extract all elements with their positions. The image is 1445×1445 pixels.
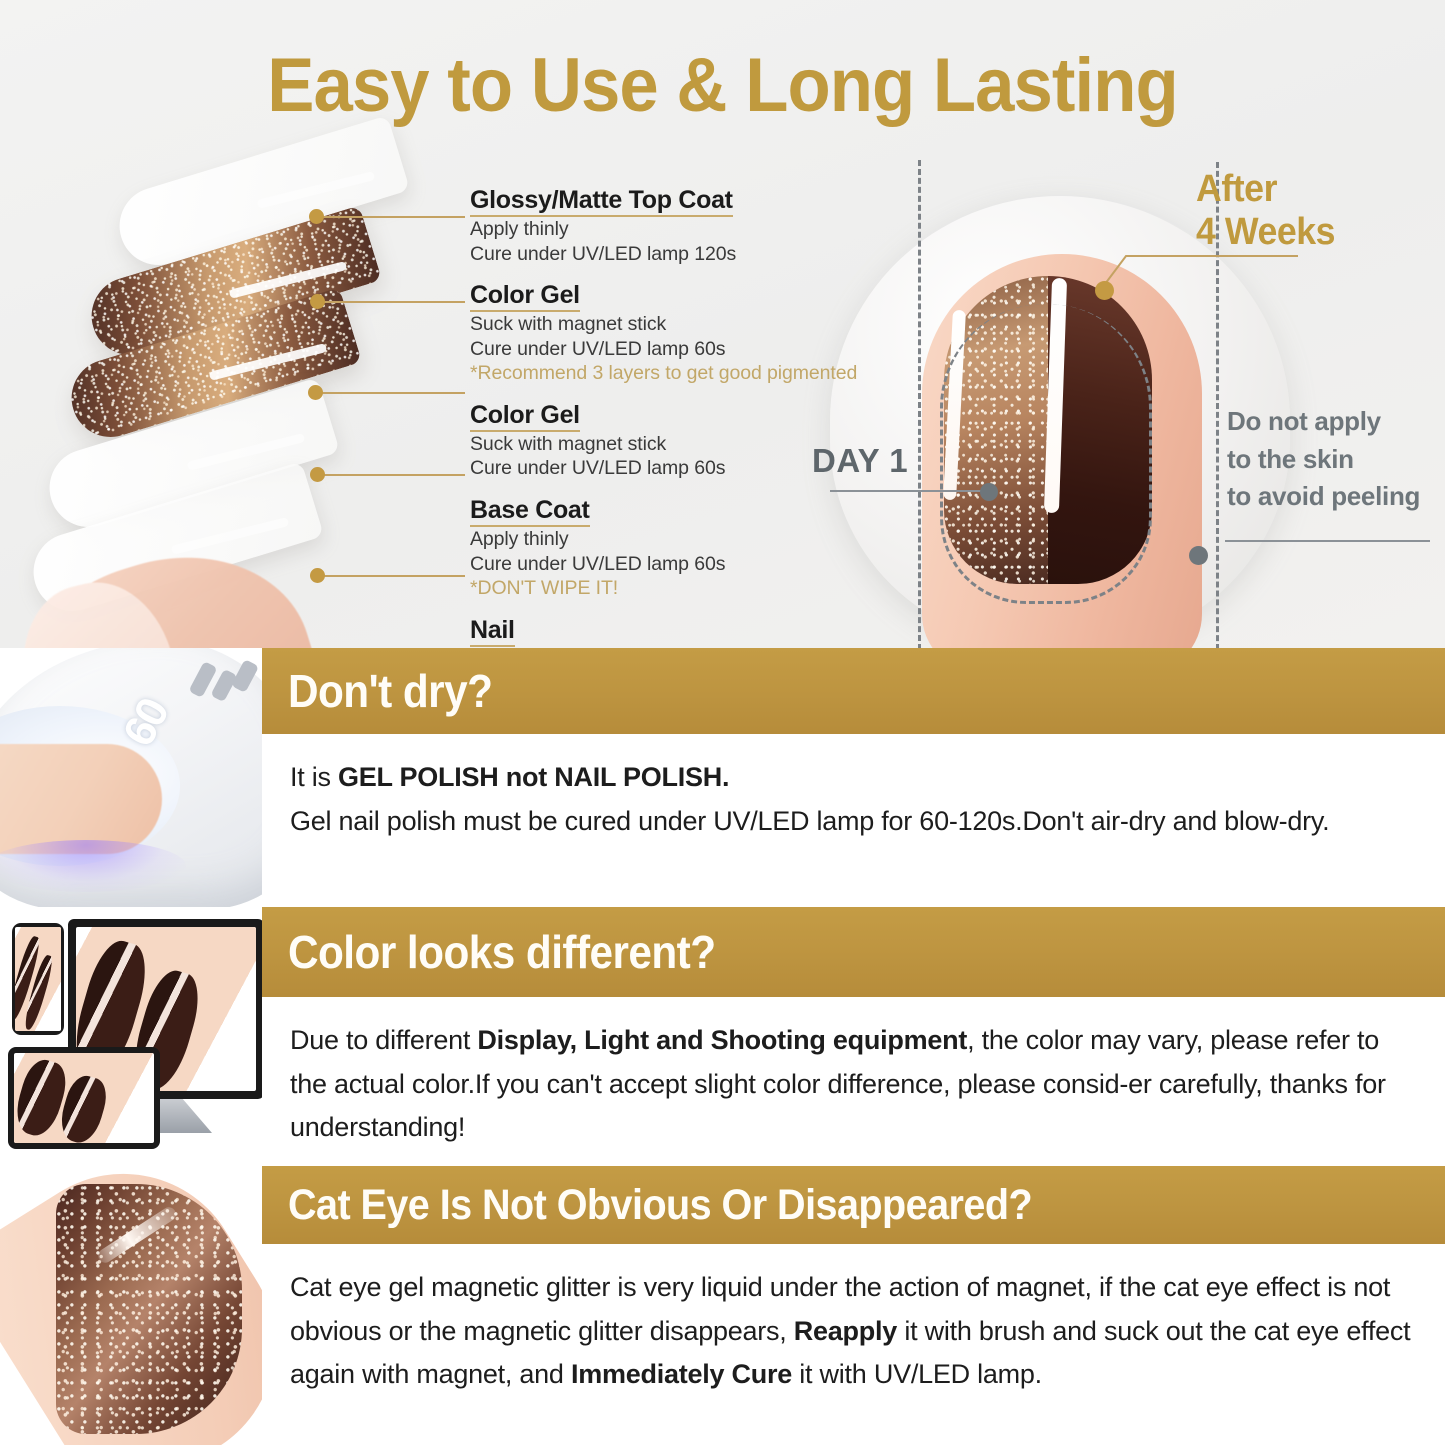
layer-note: *Recommend 3 layers to get good pigmente… xyxy=(470,361,870,386)
after-4-weeks-label: After 4 Weeks xyxy=(1196,168,1335,253)
faq-paragraph: It is GEL POLISH not NAIL POLISH. Gel na… xyxy=(262,734,1445,843)
layer-line: Apply thinly xyxy=(470,217,870,242)
faq-text-plain: Due to different xyxy=(290,1025,477,1055)
layer-line: Cure under UV/LED lamp 60s xyxy=(470,456,870,481)
faq-header-bar: Cat Eye Is Not Obvious Or Disappeared? xyxy=(262,1166,1445,1244)
leader-line-color-gel-1 xyxy=(322,301,465,303)
after-label-line1: After xyxy=(1196,168,1335,211)
layer-item-color-gel-lower: Color Gel Suck with magnet stick Cure un… xyxy=(470,401,870,481)
skin-warning-line1: Do not apply xyxy=(1227,403,1420,441)
tablet-device xyxy=(8,1047,160,1149)
faq-heading: Don't dry? xyxy=(288,664,492,718)
layer-title: Base Coat xyxy=(470,496,590,527)
layer-item-top-coat: Glossy/Matte Top Coat Apply thinly Cure … xyxy=(470,186,870,266)
layer-line: Cure under UV/LED lamp 60s xyxy=(470,552,870,577)
layer-title: Nail xyxy=(470,616,515,647)
nails-on-tablet xyxy=(14,1053,154,1143)
layer-item-nail: Nail Keep clean&dry xyxy=(470,616,870,648)
layer-title: Color Gel xyxy=(470,281,580,312)
leader-line-base-coat xyxy=(322,474,465,476)
layer-line: Keep clean&dry xyxy=(470,647,870,648)
faq-thumbnail-devices xyxy=(0,907,262,1166)
hand-in-lamp xyxy=(0,744,162,854)
layer-note: *DON'T WIPE IT! xyxy=(470,576,870,601)
skin-warning-line3: to avoid peeling xyxy=(1227,478,1420,516)
layer-label-list: Glossy/Matte Top Coat Apply thinly Cure … xyxy=(470,186,870,648)
faq-thumbnail-cat-eye xyxy=(0,1166,262,1445)
leader-dot-color-gel-2 xyxy=(308,385,323,400)
layer-stack-illustration xyxy=(45,150,465,648)
hero-section: Easy to Use & Long Lasting Glossy/Matte xyxy=(0,0,1445,648)
dashed-guide-left xyxy=(918,160,921,648)
phone-screen xyxy=(15,927,61,1031)
layer-line: Cure under UV/LED lamp 60s xyxy=(470,337,870,362)
faq-section-cat-eye: Cat Eye Is Not Obvious Or Disappeared? C… xyxy=(0,1166,1445,1445)
phone-device xyxy=(12,923,64,1035)
leader-line-color-gel-2 xyxy=(320,392,465,394)
infographic-page: Easy to Use & Long Lasting Glossy/Matte xyxy=(0,0,1445,1445)
faq-text-plain: It is xyxy=(290,762,338,792)
skin-warning-label: Do not apply to the skin to avoid peelin… xyxy=(1227,403,1420,516)
faq-header-bar: Don't dry? xyxy=(262,648,1445,734)
leader-dot-color-gel-1 xyxy=(310,294,325,309)
faq-paragraph: Due to different Display, Light and Shoo… xyxy=(262,997,1445,1150)
faq-body: Don't dry? It is GEL POLISH not NAIL POL… xyxy=(262,648,1445,907)
faq-text-bold: Display, Light and Shooting equipment xyxy=(477,1025,967,1055)
tablet-screen xyxy=(14,1053,154,1143)
page-title: Easy to Use & Long Lasting xyxy=(51,42,1395,129)
faq-body: Color looks different? Due to different … xyxy=(262,907,1445,1166)
skin-warning-leader-line xyxy=(1225,540,1430,542)
faq-paragraph: Cat eye gel magnetic glitter is very liq… xyxy=(262,1244,1445,1397)
layer-title: Color Gel xyxy=(470,401,580,432)
faq-thumbnail-uv-lamp: 60 xyxy=(0,648,262,907)
skin-warning-dot xyxy=(1189,546,1208,565)
faq-text-bold: Immediately Cure xyxy=(571,1359,792,1389)
nail-outline-dashed xyxy=(940,304,1152,604)
faq-text-plain: Gel nail polish must be cured under UV/L… xyxy=(290,806,1329,836)
layer-title: Glossy/Matte Top Coat xyxy=(470,186,733,217)
faq-header-bar: Color looks different? xyxy=(262,907,1445,997)
leader-dot-top-coat xyxy=(309,209,324,224)
layer-item-color-gel-upper: Color Gel Suck with magnet stick Cure un… xyxy=(470,281,870,386)
faq-text-bold: GEL POLISH not NAIL POLISH. xyxy=(338,762,729,792)
faq-body: Cat Eye Is Not Obvious Or Disappeared? C… xyxy=(262,1166,1445,1445)
durability-photo xyxy=(800,150,1445,648)
faq-text-bold: Reapply xyxy=(794,1316,897,1346)
thumb-finger xyxy=(922,254,1202,648)
day-1-dot xyxy=(980,483,998,501)
leader-line-top-coat xyxy=(320,216,465,218)
leader-dot-nail xyxy=(310,568,325,583)
nails-on-phone xyxy=(15,927,61,1031)
leader-dot-base-coat xyxy=(310,467,325,482)
leader-line-nail xyxy=(322,575,465,577)
faq-section-dont-dry: 60 Don't dry? It is GEL POLISH not NAIL … xyxy=(0,648,1445,907)
faq-section-color-difference: Color looks different? Due to different … xyxy=(0,907,1445,1166)
skin-warning-line2: to the skin xyxy=(1227,441,1420,479)
layer-line: Suck with magnet stick xyxy=(470,432,870,457)
after-4-weeks-dot xyxy=(1095,281,1114,300)
after-4-weeks-leader xyxy=(1100,246,1300,296)
layer-line: Apply thinly xyxy=(470,527,870,552)
faq-text-plain: it with UV/LED lamp. xyxy=(792,1359,1042,1389)
faq-heading: Cat Eye Is Not Obvious Or Disappeared? xyxy=(288,1181,1032,1230)
faq-heading: Color looks different? xyxy=(288,925,716,979)
layer-line: Suck with magnet stick xyxy=(470,312,870,337)
layer-item-base-coat: Base Coat Apply thinly Cure under UV/LED… xyxy=(470,496,870,601)
layer-line: Cure under UV/LED lamp 120s xyxy=(470,242,870,267)
